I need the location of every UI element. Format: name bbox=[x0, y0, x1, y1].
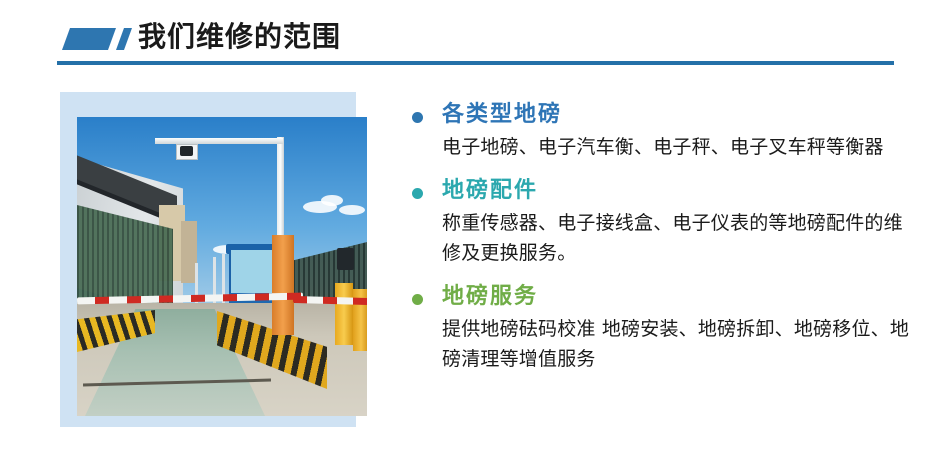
bullet-dot-icon bbox=[412, 188, 423, 199]
title-accent-mark-icon bbox=[62, 28, 130, 50]
list-item-body: 称重传感器、电子接线盒、电子仪表的等地磅配件的维修及更换服务。 bbox=[442, 208, 912, 268]
list-item-heading: 各类型地磅 bbox=[442, 100, 928, 130]
accent-bar-wide bbox=[62, 28, 116, 50]
cloud bbox=[339, 205, 365, 215]
truck-weighbridge-photo bbox=[77, 117, 367, 416]
list-item: 地磅服务 提供地磅砝码校准 地磅安装、地磅拆卸、地磅移位、地磅清理等增值服务 bbox=[408, 282, 928, 374]
bullet-dot-icon bbox=[412, 294, 423, 305]
camera-lens-icon bbox=[180, 146, 193, 156]
slide-header: 我们维修的范围 bbox=[0, 0, 945, 72]
list-item: 各类型地磅 电子地磅、电子汽车衡、电子秤、电子叉车秤等衡器 bbox=[408, 100, 928, 162]
camera-pole bbox=[277, 137, 284, 249]
service-scope-list: 各类型地磅 电子地磅、电子汽车衡、电子秤、电子叉车秤等衡器 地磅配件 称重传感器… bbox=[408, 100, 928, 388]
camera-arm bbox=[155, 138, 283, 144]
list-item-heading: 地磅服务 bbox=[442, 282, 928, 312]
orange-bollard bbox=[272, 235, 294, 335]
cloud bbox=[321, 195, 343, 206]
page-title: 我们维修的范围 bbox=[138, 18, 341, 56]
list-item-body: 提供地磅砝码校准 地磅安装、地磅拆卸、地磅移位、地磅清理等增值服务 bbox=[442, 314, 912, 374]
list-item: 地磅配件 称重传感器、电子接线盒、电子仪表的等地磅配件的维修及更换服务。 bbox=[408, 176, 928, 268]
list-item-heading: 地磅配件 bbox=[442, 176, 928, 206]
accent-bar-slim bbox=[116, 28, 132, 50]
camera-housing bbox=[337, 248, 354, 270]
yellow-bollard bbox=[335, 283, 353, 345]
header-divider bbox=[57, 61, 894, 65]
bullet-dot-icon bbox=[412, 112, 423, 123]
list-item-body: 电子地磅、电子汽车衡、电子秤、电子叉车秤等衡器 bbox=[442, 132, 912, 162]
